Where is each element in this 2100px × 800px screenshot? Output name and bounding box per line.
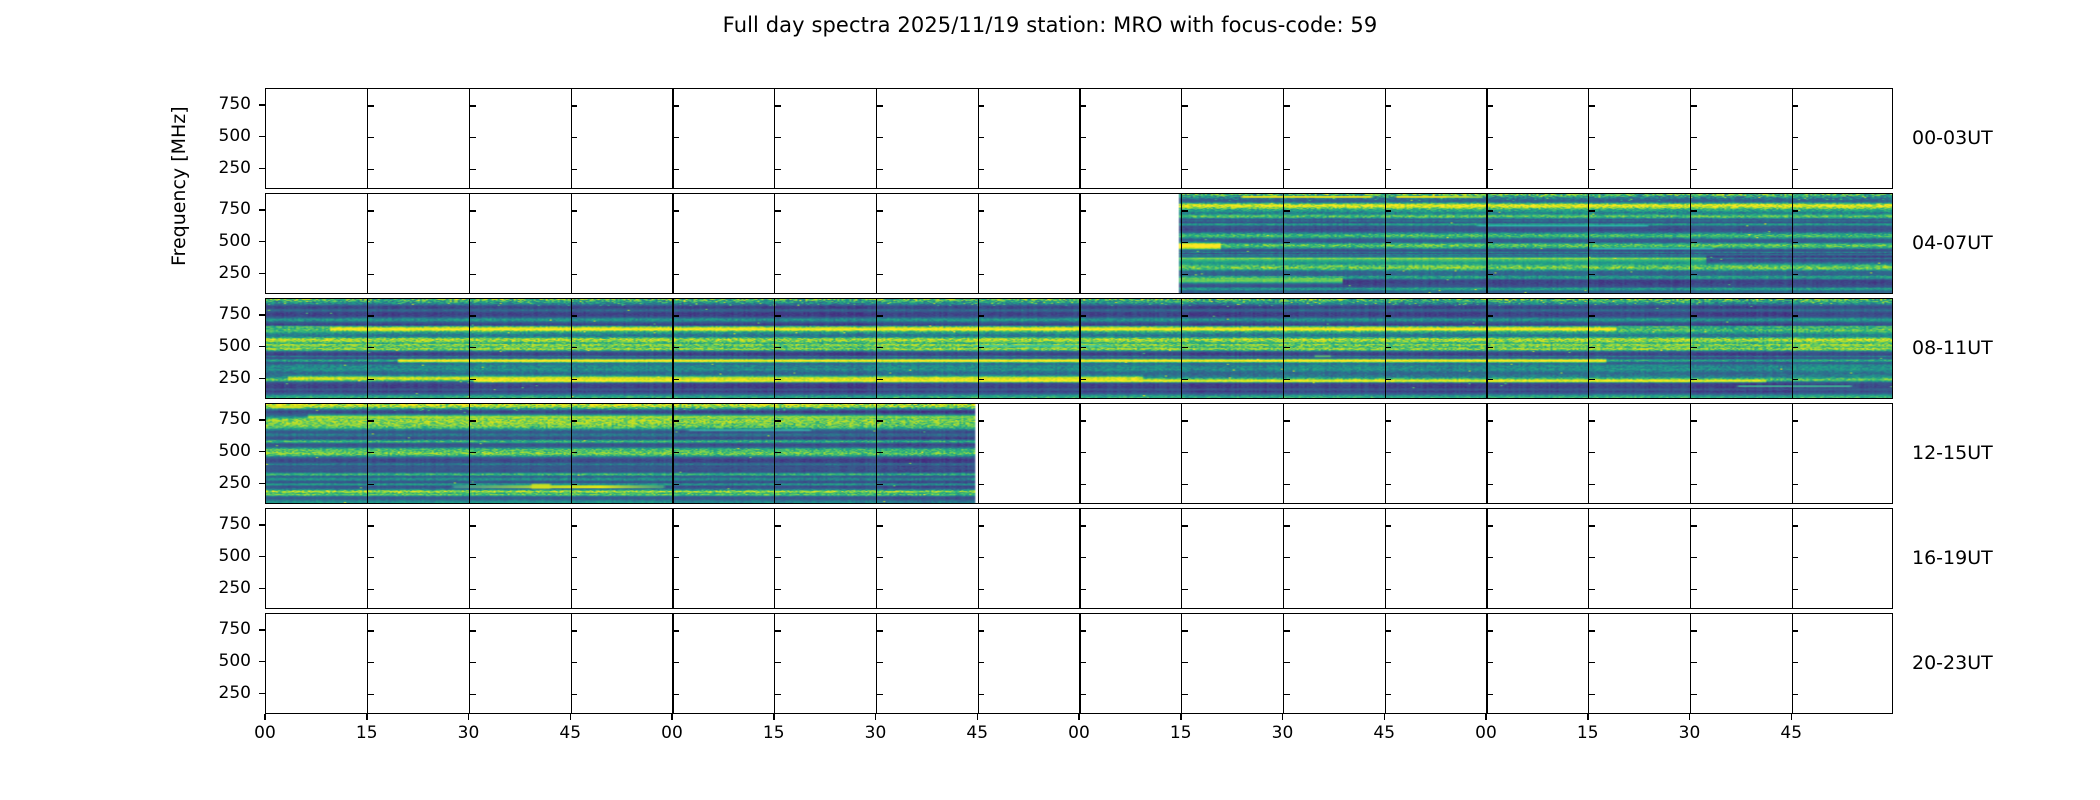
inner-frequency-tick: [877, 210, 883, 212]
column-divider: [1588, 509, 1589, 608]
inner-frequency-tick: [1589, 662, 1595, 664]
inner-frequency-tick: [571, 169, 577, 171]
inner-frequency-tick: [978, 379, 984, 381]
inner-frequency-tick: [1792, 630, 1798, 632]
inner-frequency-tick: [1385, 379, 1391, 381]
inner-frequency-tick: [978, 137, 984, 139]
column-divider: [1690, 299, 1691, 398]
inner-frequency-tick: [1792, 525, 1798, 527]
inner-frequency-tick: [673, 662, 679, 664]
inner-frequency-tick: [1589, 242, 1595, 244]
spectrogram-row-16-19ut[interactable]: [265, 508, 1893, 609]
inner-frequency-tick: [1589, 484, 1595, 486]
inner-frequency-tick: [1792, 169, 1798, 171]
inner-frequency-tick: [877, 525, 883, 527]
inner-frequency-tick: [1487, 420, 1493, 422]
column-divider: [367, 509, 368, 608]
inner-frequency-tick: [1080, 662, 1086, 664]
inner-frequency-tick: [1589, 137, 1595, 139]
inner-frequency-tick: [470, 137, 476, 139]
inner-frequency-tick: [571, 589, 577, 591]
column-divider: [672, 194, 673, 293]
inner-frequency-tick: [978, 242, 984, 244]
inner-frequency-tick: [1182, 589, 1188, 591]
column-divider: [978, 509, 979, 608]
inner-frequency-tick: [1589, 694, 1595, 696]
column-divider: [1181, 299, 1182, 398]
column-divider: [1486, 89, 1487, 188]
inner-frequency-tick: [978, 420, 984, 422]
inner-frequency-tick: [470, 379, 476, 381]
inner-frequency-tick: [775, 589, 781, 591]
inner-frequency-tick: [1487, 694, 1493, 696]
x-axis-tick-label: 15: [342, 723, 392, 743]
column-divider: [469, 509, 470, 608]
inner-frequency-tick: [1792, 420, 1798, 422]
inner-frequency-tick: [775, 210, 781, 212]
column-divider: [774, 89, 775, 188]
inner-frequency-tick: [1691, 630, 1697, 632]
inner-frequency-tick: [571, 484, 577, 486]
inner-frequency-tick: [1691, 379, 1697, 381]
inner-frequency-tick: [1487, 315, 1493, 317]
inner-frequency-tick: [470, 347, 476, 349]
column-divider: [1385, 404, 1386, 503]
inner-frequency-tick: [470, 662, 476, 664]
inner-frequency-tick: [1284, 662, 1290, 664]
x-axis-tick-label: 30: [1665, 723, 1715, 743]
inner-frequency-tick: [470, 694, 476, 696]
x-axis-tick-label: 15: [1156, 723, 1206, 743]
inner-frequency-tick: [1792, 484, 1798, 486]
inner-frequency-tick: [877, 137, 883, 139]
inner-frequency-tick: [1589, 169, 1595, 171]
inner-frequency-tick: [1792, 662, 1798, 664]
column-divider: [672, 614, 673, 713]
inner-frequency-tick: [1284, 137, 1290, 139]
inner-frequency-tick: [673, 347, 679, 349]
inner-frequency-tick: [1487, 242, 1493, 244]
column-divider: [1588, 614, 1589, 713]
inner-frequency-tick: [1691, 274, 1697, 276]
inner-frequency-tick: [368, 694, 374, 696]
inner-frequency-tick: [1080, 242, 1086, 244]
column-divider: [1486, 194, 1487, 293]
inner-frequency-tick: [571, 452, 577, 454]
column-divider: [774, 194, 775, 293]
column-divider: [571, 404, 572, 503]
inner-frequency-tick: [1284, 315, 1290, 317]
column-divider: [1385, 194, 1386, 293]
spectrogram-figure: Full day spectra 2025/11/19 station: MRO…: [0, 0, 2100, 800]
column-divider: [1690, 404, 1691, 503]
inner-frequency-tick: [775, 420, 781, 422]
inner-frequency-tick: [1080, 274, 1086, 276]
y-axis-tick-label: 750: [203, 199, 251, 219]
inner-frequency-tick: [470, 452, 476, 454]
inner-frequency-tick: [470, 105, 476, 107]
column-divider: [1690, 614, 1691, 713]
inner-frequency-tick: [775, 105, 781, 107]
column-divider: [1181, 89, 1182, 188]
inner-frequency-tick: [368, 274, 374, 276]
inner-frequency-tick: [1284, 242, 1290, 244]
inner-frequency-tick: [1182, 694, 1188, 696]
inner-frequency-tick: [1385, 694, 1391, 696]
column-divider: [1079, 404, 1080, 503]
column-divider: [876, 89, 877, 188]
spectrogram-row-00-03ut[interactable]: [265, 88, 1893, 189]
inner-frequency-tick: [877, 557, 883, 559]
inner-frequency-tick: [1589, 452, 1595, 454]
inner-frequency-tick: [368, 105, 374, 107]
inner-frequency-tick: [775, 630, 781, 632]
inner-frequency-tick: [571, 315, 577, 317]
inner-frequency-tick: [1385, 630, 1391, 632]
inner-frequency-tick: [1385, 589, 1391, 591]
y-axis-tick-label: 250: [203, 368, 251, 388]
inner-frequency-tick: [1080, 210, 1086, 212]
inner-frequency-tick: [1385, 105, 1391, 107]
inner-frequency-tick: [1589, 347, 1595, 349]
column-divider: [469, 194, 470, 293]
inner-frequency-tick: [877, 452, 883, 454]
inner-frequency-tick: [368, 589, 374, 591]
column-divider: [1486, 299, 1487, 398]
inner-frequency-tick: [1691, 347, 1697, 349]
inner-frequency-tick: [673, 694, 679, 696]
inner-frequency-tick: [571, 274, 577, 276]
inner-frequency-tick: [673, 420, 679, 422]
inner-frequency-tick: [1284, 169, 1290, 171]
inner-frequency-tick: [978, 557, 984, 559]
inner-frequency-tick: [368, 210, 374, 212]
column-divider: [774, 299, 775, 398]
x-axis-tick-label: 00: [240, 723, 290, 743]
x-axis-tick-label: 30: [851, 723, 901, 743]
inner-frequency-tick: [673, 242, 679, 244]
inner-frequency-tick: [1589, 525, 1595, 527]
inner-frequency-tick: [1182, 210, 1188, 212]
column-divider: [1792, 509, 1793, 608]
inner-frequency-tick: [877, 315, 883, 317]
inner-frequency-tick: [1487, 274, 1493, 276]
inner-frequency-tick: [1691, 484, 1697, 486]
spectrogram-row-20-23ut[interactable]: [265, 613, 1893, 714]
inner-frequency-tick: [1080, 105, 1086, 107]
row-label-16-19ut: 16-19UT: [1912, 547, 1993, 569]
inner-frequency-tick: [877, 242, 883, 244]
inner-frequency-tick: [368, 484, 374, 486]
inner-frequency-tick: [470, 242, 476, 244]
inner-frequency-tick: [978, 694, 984, 696]
inner-frequency-tick: [1284, 484, 1290, 486]
inner-frequency-tick: [978, 274, 984, 276]
inner-frequency-tick: [1385, 169, 1391, 171]
inner-frequency-tick: [1182, 315, 1188, 317]
plot-area: [265, 88, 1893, 717]
column-divider: [1385, 509, 1386, 608]
inner-frequency-tick: [1589, 589, 1595, 591]
inner-frequency-tick: [571, 242, 577, 244]
y-axis-tick-label: 250: [203, 158, 251, 178]
inner-frequency-tick: [571, 420, 577, 422]
inner-frequency-tick: [775, 169, 781, 171]
inner-frequency-tick: [571, 662, 577, 664]
inner-frequency-tick: [1284, 379, 1290, 381]
inner-frequency-tick: [1385, 452, 1391, 454]
column-divider: [1486, 509, 1487, 608]
column-divider: [1588, 194, 1589, 293]
inner-frequency-tick: [673, 315, 679, 317]
inner-frequency-tick: [1487, 105, 1493, 107]
column-divider: [1181, 194, 1182, 293]
inner-frequency-tick: [1589, 420, 1595, 422]
column-divider: [774, 614, 775, 713]
column-divider: [367, 299, 368, 398]
y-axis-tick-label: 750: [203, 304, 251, 324]
inner-frequency-tick: [1691, 315, 1697, 317]
inner-frequency-tick: [571, 347, 577, 349]
inner-frequency-tick: [470, 589, 476, 591]
inner-frequency-tick: [1792, 242, 1798, 244]
inner-frequency-tick: [1182, 525, 1188, 527]
inner-frequency-tick: [1385, 274, 1391, 276]
column-divider: [1079, 194, 1080, 293]
column-divider: [876, 299, 877, 398]
inner-frequency-tick: [1487, 452, 1493, 454]
inner-frequency-tick: [1080, 169, 1086, 171]
y-axis-tick-label: 750: [203, 94, 251, 114]
inner-frequency-tick: [470, 420, 476, 422]
column-divider: [876, 614, 877, 713]
inner-frequency-tick: [1080, 694, 1086, 696]
inner-frequency-tick: [1182, 630, 1188, 632]
inner-frequency-tick: [1691, 210, 1697, 212]
inner-frequency-tick: [673, 274, 679, 276]
inner-frequency-tick: [1487, 557, 1493, 559]
y-axis-tick-label: 250: [203, 473, 251, 493]
inner-frequency-tick: [571, 694, 577, 696]
inner-frequency-tick: [1589, 274, 1595, 276]
column-divider: [876, 404, 877, 503]
inner-frequency-tick: [1284, 557, 1290, 559]
inner-frequency-tick: [1080, 420, 1086, 422]
row-label-08-11ut: 08-11UT: [1912, 337, 1993, 359]
inner-frequency-tick: [571, 525, 577, 527]
column-divider: [1792, 404, 1793, 503]
inner-frequency-tick: [368, 420, 374, 422]
inner-frequency-tick: [775, 452, 781, 454]
column-divider: [978, 614, 979, 713]
inner-frequency-tick: [1589, 105, 1595, 107]
inner-frequency-tick: [571, 137, 577, 139]
inner-frequency-tick: [1691, 694, 1697, 696]
y-axis-label: Frequency [MHz]: [168, 0, 190, 266]
column-divider: [1588, 404, 1589, 503]
inner-frequency-tick: [978, 105, 984, 107]
inner-frequency-tick: [673, 525, 679, 527]
inner-frequency-tick: [978, 315, 984, 317]
column-divider: [1385, 299, 1386, 398]
column-divider: [672, 89, 673, 188]
inner-frequency-tick: [1080, 379, 1086, 381]
inner-frequency-tick: [877, 484, 883, 486]
inner-frequency-tick: [1284, 694, 1290, 696]
x-axis-tick-label: 00: [1461, 723, 1511, 743]
inner-frequency-tick: [673, 210, 679, 212]
inner-frequency-tick: [775, 557, 781, 559]
column-divider: [367, 404, 368, 503]
inner-frequency-tick: [978, 589, 984, 591]
inner-frequency-tick: [1385, 557, 1391, 559]
inner-frequency-tick: [470, 210, 476, 212]
inner-frequency-tick: [571, 105, 577, 107]
inner-frequency-tick: [1182, 557, 1188, 559]
inner-frequency-tick: [1691, 137, 1697, 139]
inner-frequency-tick: [978, 630, 984, 632]
column-divider: [1792, 89, 1793, 188]
inner-frequency-tick: [571, 557, 577, 559]
y-axis-tick-label: 750: [203, 514, 251, 534]
column-divider: [876, 194, 877, 293]
inner-frequency-tick: [1385, 137, 1391, 139]
inner-frequency-tick: [1182, 347, 1188, 349]
inner-frequency-tick: [1691, 169, 1697, 171]
column-divider: [1588, 299, 1589, 398]
inner-frequency-tick: [1792, 210, 1798, 212]
inner-frequency-tick: [1691, 525, 1697, 527]
y-axis-tick-label: 250: [203, 263, 251, 283]
column-divider: [1283, 299, 1284, 398]
inner-frequency-tick: [368, 347, 374, 349]
spectrogram-row-08-11ut[interactable]: [265, 298, 1893, 399]
inner-frequency-tick: [1385, 662, 1391, 664]
column-divider: [469, 89, 470, 188]
inner-frequency-tick: [978, 452, 984, 454]
y-axis-tick-label: 500: [203, 231, 251, 251]
inner-frequency-tick: [571, 210, 577, 212]
inner-frequency-tick: [1792, 347, 1798, 349]
inner-frequency-tick: [1385, 210, 1391, 212]
column-divider: [1283, 194, 1284, 293]
x-axis-tick-label: 45: [952, 723, 1002, 743]
inner-frequency-tick: [1182, 452, 1188, 454]
inner-frequency-tick: [673, 379, 679, 381]
x-axis-tick-label: 00: [647, 723, 697, 743]
column-divider: [1385, 614, 1386, 713]
inner-frequency-tick: [1080, 315, 1086, 317]
column-divider: [1792, 299, 1793, 398]
inner-frequency-tick: [470, 630, 476, 632]
inner-frequency-tick: [470, 525, 476, 527]
inner-frequency-tick: [1792, 589, 1798, 591]
inner-frequency-tick: [775, 315, 781, 317]
inner-frequency-tick: [470, 484, 476, 486]
inner-frequency-tick: [1792, 452, 1798, 454]
column-divider: [672, 404, 673, 503]
inner-frequency-tick: [1182, 105, 1188, 107]
inner-frequency-tick: [1792, 694, 1798, 696]
inner-frequency-tick: [1284, 105, 1290, 107]
inner-frequency-tick: [775, 694, 781, 696]
column-divider: [978, 404, 979, 503]
inner-frequency-tick: [368, 137, 374, 139]
inner-frequency-tick: [978, 210, 984, 212]
inner-frequency-tick: [877, 420, 883, 422]
column-divider: [1690, 194, 1691, 293]
inner-frequency-tick: [368, 242, 374, 244]
inner-frequency-tick: [571, 379, 577, 381]
inner-frequency-tick: [978, 525, 984, 527]
inner-frequency-tick: [470, 315, 476, 317]
column-divider: [876, 509, 877, 608]
column-divider: [469, 299, 470, 398]
spectrogram-row-04-07ut[interactable]: [265, 193, 1893, 294]
y-axis-tick-label: 250: [203, 578, 251, 598]
column-divider: [571, 509, 572, 608]
inner-frequency-tick: [1284, 525, 1290, 527]
y-axis-tick-label: 500: [203, 126, 251, 146]
row-label-12-15ut: 12-15UT: [1912, 442, 1993, 464]
spectrogram-row-12-15ut[interactable]: [265, 403, 1893, 504]
inner-frequency-tick: [1182, 484, 1188, 486]
inner-frequency-tick: [1589, 630, 1595, 632]
inner-frequency-tick: [978, 484, 984, 486]
x-axis-tick-label: 00: [1054, 723, 1104, 743]
inner-frequency-tick: [877, 105, 883, 107]
inner-frequency-tick: [368, 662, 374, 664]
column-divider: [571, 299, 572, 398]
y-axis-tick-label: 500: [203, 441, 251, 461]
inner-frequency-tick: [1385, 525, 1391, 527]
inner-frequency-tick: [877, 169, 883, 171]
inner-frequency-tick: [1589, 557, 1595, 559]
column-divider: [1283, 509, 1284, 608]
inner-frequency-tick: [1284, 452, 1290, 454]
y-axis-tick-label: 750: [203, 409, 251, 429]
column-divider: [367, 89, 368, 188]
inner-frequency-tick: [775, 347, 781, 349]
inner-frequency-tick: [1691, 662, 1697, 664]
inner-frequency-tick: [877, 379, 883, 381]
column-divider: [367, 194, 368, 293]
column-divider: [1283, 89, 1284, 188]
column-divider: [1588, 89, 1589, 188]
column-divider: [367, 614, 368, 713]
inner-frequency-tick: [1182, 662, 1188, 664]
inner-frequency-tick: [368, 379, 374, 381]
inner-frequency-tick: [877, 662, 883, 664]
inner-frequency-tick: [571, 630, 577, 632]
inner-frequency-tick: [877, 274, 883, 276]
inner-frequency-tick: [1182, 274, 1188, 276]
inner-frequency-tick: [1182, 137, 1188, 139]
inner-frequency-tick: [1284, 420, 1290, 422]
inner-frequency-tick: [1182, 379, 1188, 381]
inner-frequency-tick: [1487, 484, 1493, 486]
inner-frequency-tick: [1487, 662, 1493, 664]
inner-frequency-tick: [673, 105, 679, 107]
inner-frequency-tick: [1080, 452, 1086, 454]
inner-frequency-tick: [1385, 315, 1391, 317]
column-divider: [1079, 89, 1080, 188]
inner-frequency-tick: [1385, 347, 1391, 349]
column-divider: [469, 404, 470, 503]
inner-frequency-tick: [775, 662, 781, 664]
column-divider: [571, 89, 572, 188]
column-divider: [469, 614, 470, 713]
